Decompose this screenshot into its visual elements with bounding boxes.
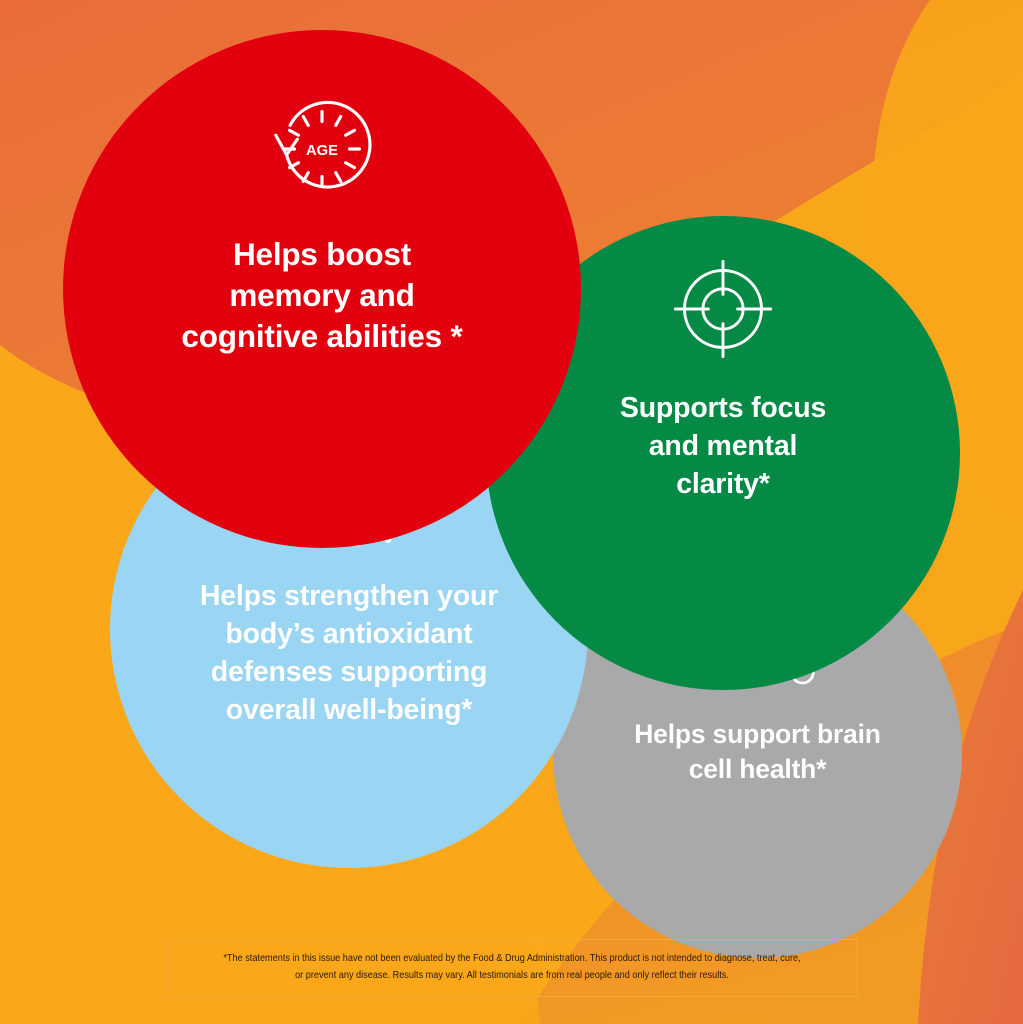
age-clock-reverse-icon: AGE — [263, 90, 381, 208]
age-clock-icon-label: AGE — [306, 143, 338, 159]
disclaimer-text: *The statements in this issue have not b… — [208, 951, 815, 985]
benefit-caption-cell: Helps support brain cell health* — [634, 717, 881, 787]
benefit-caption-memory: Helps boost memory and cognitive abiliti… — [181, 234, 462, 357]
benefit-caption-antioxidant: Helps strengthen your body’s antioxidant… — [200, 578, 498, 730]
benefit-circle-memory: AGE Helps boost memory and cognitive abi… — [63, 30, 581, 548]
target-crosshair-icon — [668, 254, 778, 364]
infographic-canvas: AGE Helps boost memory and cognitive abi… — [0, 0, 1023, 1024]
benefit-caption-focus: Supports focus and mental clarity* — [620, 390, 826, 504]
disclaimer-box: *The statements in this issue have not b… — [166, 939, 858, 997]
